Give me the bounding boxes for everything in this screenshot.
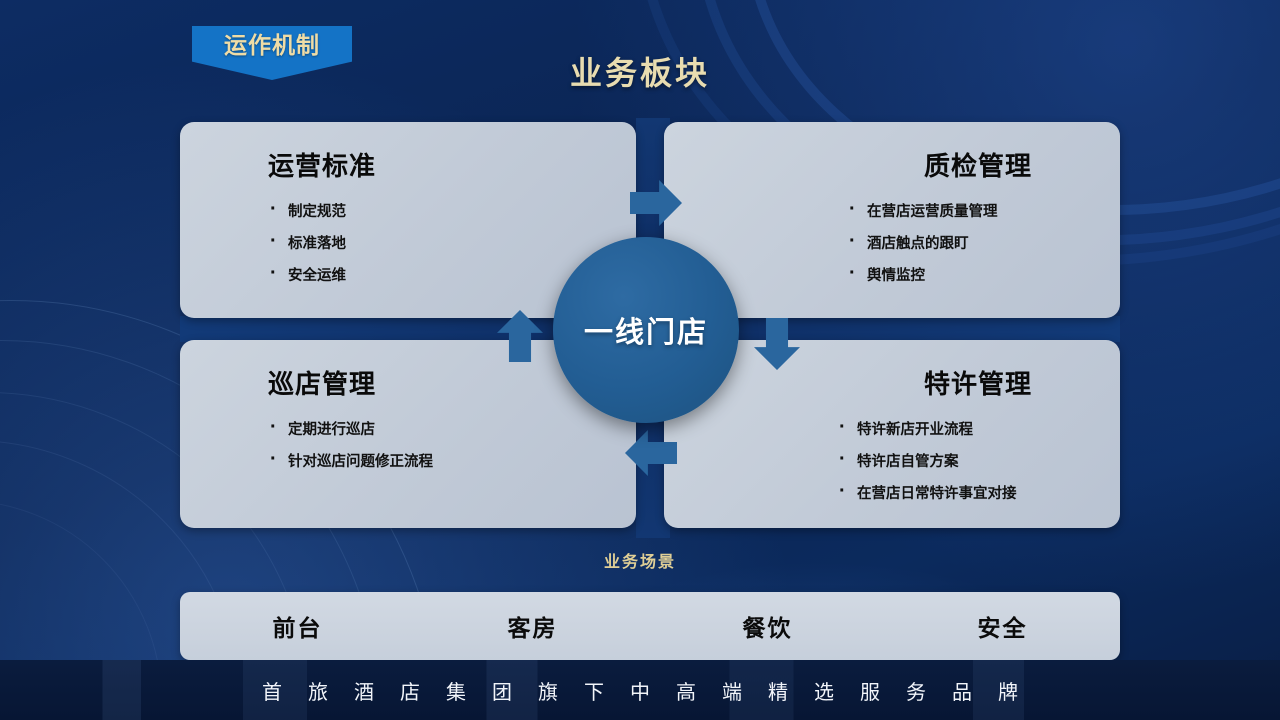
scene-item-front-desk[interactable]: 前台 <box>180 609 415 643</box>
list-item: 舆情监控 <box>849 259 1120 291</box>
scene-item-safety[interactable]: 安全 <box>885 609 1120 643</box>
panel-bullets: 在营店运营质量管理 酒店触点的跟盯 舆情监控 <box>849 195 1120 291</box>
scene-item-dining[interactable]: 餐饮 <box>650 609 885 643</box>
list-item: 定期进行巡店 <box>270 413 636 445</box>
list-item: 标准落地 <box>270 227 636 259</box>
list-item: 特许店自管方案 <box>839 445 1120 477</box>
center-hub[interactable]: 一线门店 <box>553 237 739 423</box>
list-item: 针对巡店问题修正流程 <box>270 445 636 477</box>
list-item: 在营店日常特许事宜对接 <box>839 477 1120 509</box>
panel-quality-inspection[interactable]: 质检管理 在营店运营质量管理 酒店触点的跟盯 舆情监控 <box>664 122 1120 318</box>
scene-section-label: 业务场景 <box>0 548 1280 572</box>
footer-text: 首旅酒店集团旗下中高端精选服务品牌 <box>236 676 1044 705</box>
panel-franchise[interactable]: 特许管理 特许新店开业流程 特许店自管方案 在营店日常特许事宜对接 <box>664 340 1120 528</box>
list-item: 制定规范 <box>270 195 636 227</box>
footer-bar: 首旅酒店集团旗下中高端精选服务品牌 <box>0 660 1280 720</box>
panel-bullets: 特许新店开业流程 特许店自管方案 在营店日常特许事宜对接 <box>839 413 1120 509</box>
panel-title: 运营标准 <box>180 122 636 183</box>
list-item: 酒店触点的跟盯 <box>849 227 1120 259</box>
list-item: 在营店运营质量管理 <box>849 195 1120 227</box>
scene-item-guest-room[interactable]: 客房 <box>415 609 650 643</box>
panel-title: 质检管理 <box>664 122 1120 183</box>
slide: 运作机制 业务板块 运营标准 制定规范 标准落地 安全运维 质检管理 在营店运营… <box>0 0 1280 720</box>
scene-bar: 前台 客房 餐饮 安全 <box>180 592 1120 660</box>
list-item: 特许新店开业流程 <box>839 413 1120 445</box>
center-hub-label: 一线门店 <box>584 309 708 351</box>
panel-bullets: 定期进行巡店 针对巡店问题修正流程 <box>270 413 636 477</box>
page-title: 业务板块 <box>0 48 1280 94</box>
